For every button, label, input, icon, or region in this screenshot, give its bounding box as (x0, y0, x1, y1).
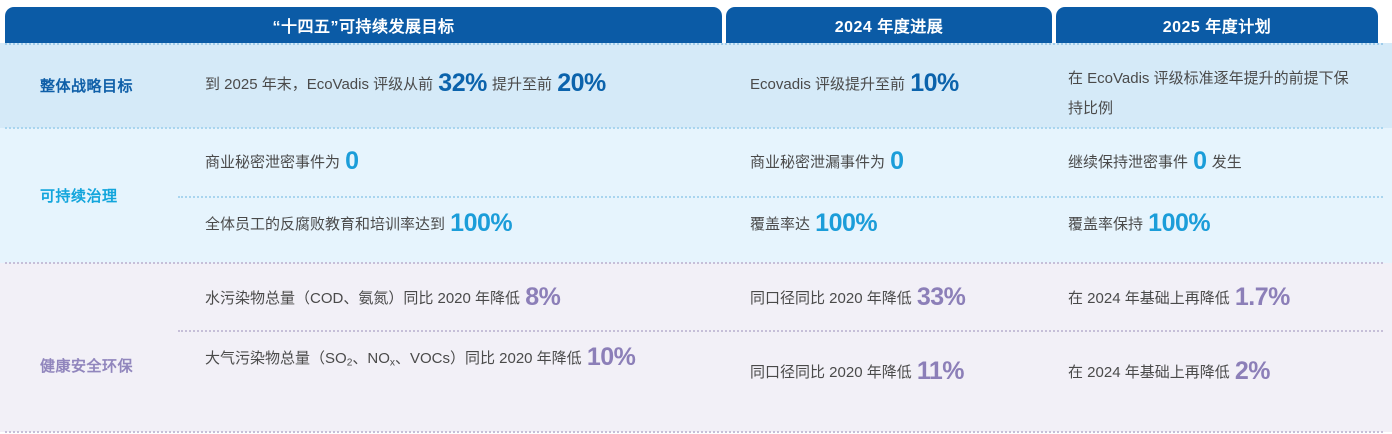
progress-value-33: 33% (916, 283, 967, 311)
cell-plan-strategy-0: 在 EcoVadis 评级标准逐年提升的前提下保持比例 (1068, 64, 1358, 124)
progress-value-100: 100% (814, 209, 878, 237)
divider-header-bottom (5, 43, 1383, 45)
category-label-strategy: 整体战略目标 (40, 78, 180, 96)
cell-progress-ehs-0: 同口径同比 2020 年降低 33% (750, 284, 1050, 314)
divider-section-strategy-governance (5, 127, 1383, 129)
progress-text-pre: 商业秘密泄漏事件为 (750, 154, 889, 171)
cell-goal-strategy-0: 到 2025 年末，EcoVadis 评级从前 32% 提升至前 20% (205, 70, 710, 100)
cell-progress-governance-1: 覆盖率达 100% (750, 210, 1050, 240)
plan-text-pre: 继续保持泄密事件 (1068, 154, 1192, 171)
progress-value-10: 10% (909, 69, 960, 97)
goal-value-32: 32% (437, 69, 488, 97)
progress-text-pre: 覆盖率达 (750, 216, 814, 233)
column-header-2025-plan: 2025 年度计划 (1056, 7, 1378, 43)
cell-goal-governance-0: 商业秘密泄密事件为 0 (205, 148, 710, 178)
progress-text-pre: 同口径同比 2020 年降低 (750, 364, 916, 381)
goal-value-20: 20% (556, 69, 607, 97)
plan-value-1-7: 1.7% (1234, 283, 1291, 311)
cell-goal-ehs-1: 大气污染物总量（SO2、NOx、VOCs）同比 2020 年降低 10% (205, 344, 725, 379)
plan-text-post: 发生 (1208, 154, 1242, 171)
goal-value-10: 10% (586, 343, 637, 371)
cell-progress-governance-0: 商业秘密泄漏事件为 0 (750, 148, 1050, 178)
divider-table-bottom (5, 431, 1383, 433)
cell-plan-ehs-1: 在 2024 年基础上再降低 2% (1068, 358, 1368, 388)
goal-text-pre: 水污染物总量（COD、氨氮）同比 2020 年降低 (205, 290, 524, 307)
cell-plan-ehs-0: 在 2024 年基础上再降低 1.7% (1068, 284, 1368, 314)
column-header-2024-progress-label: 2024 年度进展 (835, 13, 944, 37)
divider-section-governance-ehs (5, 262, 1383, 264)
plan-value-2: 2% (1234, 357, 1271, 385)
column-header-goals-label: “十四五”可持续发展目标 (272, 13, 454, 37)
plan-value-100: 100% (1147, 209, 1211, 237)
column-header-2024-progress: 2024 年度进展 (726, 7, 1052, 43)
cell-plan-governance-0: 继续保持泄密事件 0 发生 (1068, 148, 1368, 178)
plan-text-pre: 在 2024 年基础上再降低 (1068, 364, 1234, 381)
goal-text-pre-c: 、VOCs）同比 2020 年降低 (395, 350, 586, 367)
cell-plan-governance-1: 覆盖率保持 100% (1068, 210, 1368, 240)
category-label-ehs: 健康安全环保 (40, 358, 180, 376)
progress-value-11: 11% (916, 357, 965, 385)
goal-text-pre: 到 2025 年末，EcoVadis 评级从前 (205, 76, 437, 93)
progress-text-pre: 同口径同比 2020 年降低 (750, 290, 916, 307)
table-header-row: “十四五”可持续发展目标 2024 年度进展 2025 年度计划 (0, 7, 1392, 43)
column-header-2025-plan-label: 2025 年度计划 (1163, 13, 1272, 37)
progress-value-zero: 0 (889, 147, 904, 175)
goal-text-pre-a: 大气污染物总量（SO (205, 350, 347, 367)
goal-text-mid: 提升至前 (488, 76, 556, 93)
plan-text-pre: 覆盖率保持 (1068, 216, 1147, 233)
plan-text-pre: 在 2024 年基础上再降低 (1068, 290, 1234, 307)
plan-value-zero: 0 (1192, 147, 1207, 175)
goal-value-zero: 0 (344, 147, 359, 175)
cell-goal-ehs-0: 水污染物总量（COD、氨氮）同比 2020 年降低 8% (205, 284, 710, 314)
divider-ehs-rows (178, 330, 1383, 332)
progress-text-pre: Ecovadis 评级提升至前 (750, 76, 909, 93)
divider-governance-rows (178, 196, 1383, 198)
goal-value-8: 8% (524, 283, 561, 311)
column-header-goals: “十四五”可持续发展目标 (5, 7, 722, 43)
goal-text-pre: 全体员工的反腐败教育和培训率达到 (205, 216, 449, 233)
goal-value-100: 100% (449, 209, 513, 237)
goal-text-pre-b: 、NO (352, 350, 390, 367)
category-label-governance: 可持续治理 (40, 188, 180, 206)
cell-goal-governance-1: 全体员工的反腐败教育和培训率达到 100% (205, 210, 710, 240)
cell-progress-ehs-1: 同口径同比 2020 年降低 11% (750, 358, 1050, 388)
sustainability-goals-table: “十四五”可持续发展目标 2024 年度进展 2025 年度计划 整体战略目标 … (0, 0, 1392, 434)
plan-text: 在 EcoVadis 评级标准逐年提升的前提下保持比例 (1068, 70, 1349, 117)
goal-text-pre: 商业秘密泄密事件为 (205, 154, 344, 171)
cell-progress-strategy-0: Ecovadis 评级提升至前 10% (750, 70, 1050, 100)
